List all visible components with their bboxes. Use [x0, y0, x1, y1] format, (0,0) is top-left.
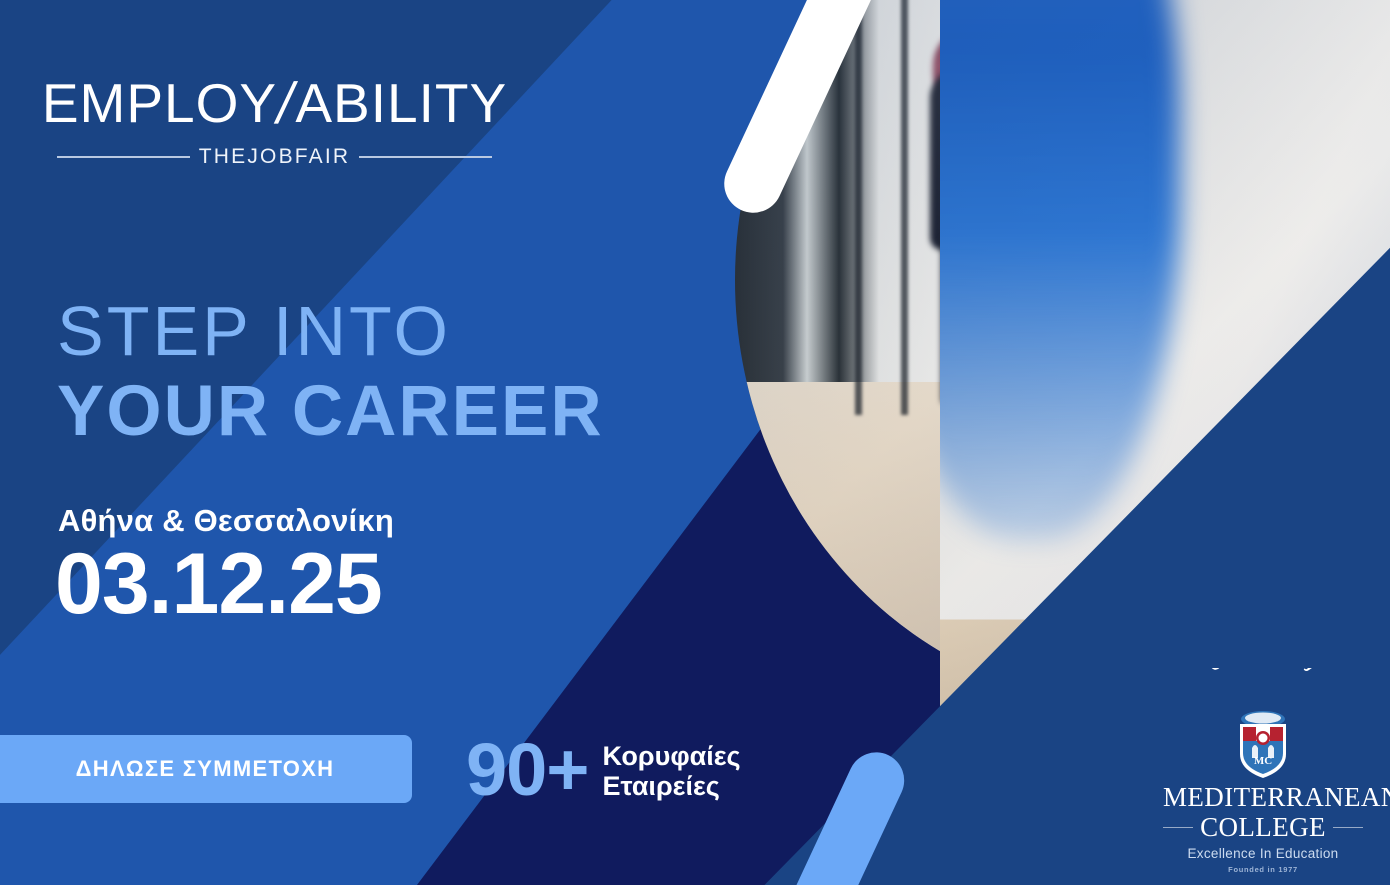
svg-text:MC: MC	[1254, 755, 1272, 767]
headline-line-2: YOUR CAREER	[57, 375, 604, 450]
organiser-logo: Organised by MC MEDITERRANEAN COL	[1163, 668, 1363, 874]
employability-logo: EMPLOY / ABILITY THEJOBFAIR	[57, 76, 492, 169]
companies-stat-label-line-1: Κορυφαίες	[603, 741, 741, 771]
organiser-name-line-2: COLLEGE	[1200, 814, 1326, 841]
register-button[interactable]: ΔΗΛΩΣΕ ΣΥΜΜΕΤΟΧΗ	[0, 735, 412, 803]
companies-stat: 90+ Κορυφαίες Εταιρείες	[466, 733, 741, 807]
register-button-label: ΔΗΛΩΣΕ ΣΥΜΜΕΤΟΧΗ	[58, 756, 335, 782]
organiser-name-line-1: MEDITERRANEAN	[1163, 784, 1363, 811]
organiser-rule-left	[1163, 827, 1193, 828]
logo-word-employ: EMPLOY	[42, 76, 277, 131]
organiser-founded: Founded in 1977	[1163, 865, 1363, 874]
logo-word-ability: ABILITY	[295, 76, 507, 131]
logo-subtitle-row: THEJOBFAIR	[57, 145, 492, 169]
organised-by-arc: Organised by	[1163, 668, 1363, 710]
companies-stat-number: 90+	[466, 733, 589, 807]
organiser-name-line-2-row: COLLEGE	[1163, 814, 1363, 841]
logo-rule-right	[359, 156, 492, 158]
logo-subtitle: THEJOBFAIR	[199, 145, 351, 169]
event-date: 03.12.25	[55, 541, 382, 627]
headline-line-1: STEP INTO	[57, 296, 604, 367]
promo-banner: EMPLOY / ABILITY THEJOBFAIR STEP INTO YO…	[0, 0, 1390, 885]
organiser-tagline: Excellence In Education	[1163, 846, 1363, 861]
logo-wordmark: EMPLOY / ABILITY	[57, 76, 492, 131]
organised-by-text: Organised by	[1206, 668, 1320, 675]
organiser-rule-right	[1333, 827, 1363, 828]
companies-stat-label: Κορυφαίες Εταιρείες	[603, 741, 741, 801]
headline: STEP INTO YOUR CAREER	[57, 296, 604, 450]
event-location: Αθήνα & Θεσσαλονίκη	[58, 503, 394, 539]
college-crest-icon: MC	[1232, 708, 1294, 780]
companies-stat-label-line-2: Εταιρείες	[603, 771, 741, 801]
logo-rule-left	[57, 156, 190, 158]
